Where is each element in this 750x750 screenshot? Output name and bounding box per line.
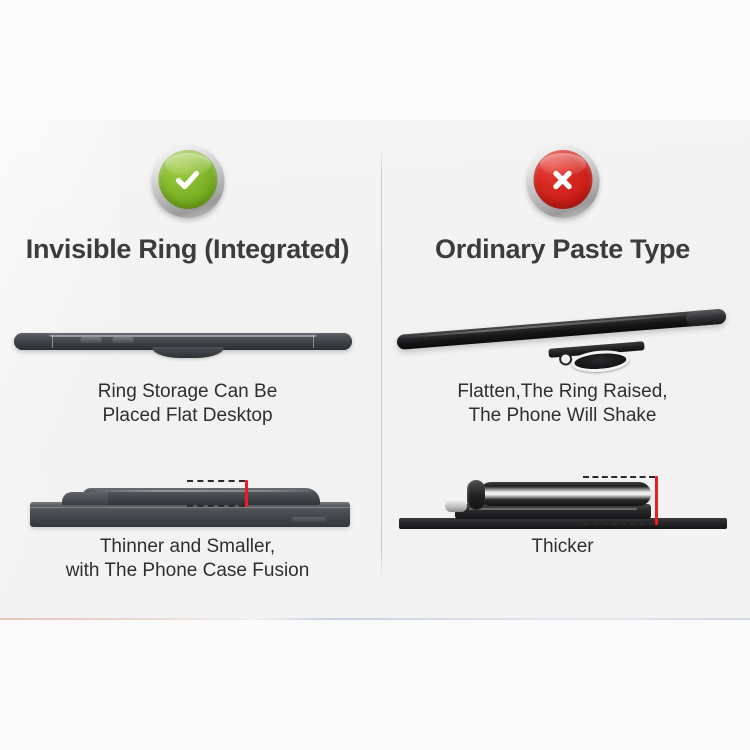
- volume-button-up: [80, 337, 102, 343]
- comparison-column-ordinary-paste: Ordinary Paste Type Flatten,The Ring Rai…: [375, 120, 750, 620]
- phone-tilt-wrapper: [397, 319, 727, 365]
- status-badge-negative: [517, 137, 609, 229]
- volume-button-down: [112, 337, 134, 343]
- paste-ring-holder: [548, 341, 645, 371]
- phone-seam-right: [313, 335, 314, 348]
- caption-top: Ring Storage Can Be Placed Flat Desktop: [0, 380, 375, 428]
- ring-hinge: [467, 480, 485, 510]
- measure-bar: [655, 476, 658, 525]
- measure-bar: [245, 480, 248, 507]
- ring-base-plate: [455, 504, 651, 519]
- phone-cap-right: [314, 333, 352, 350]
- product-photo-cased-phone-thin: [0, 450, 375, 530]
- phone-body: [479, 482, 651, 506]
- product-photo-flat-phone: [0, 305, 375, 375]
- product-photo-phone-on-desk-thick: [375, 450, 750, 530]
- infographic-canvas: Invisible Ring (Integrated) Ring Storage…: [0, 0, 750, 750]
- caption-bottom: Thicker: [375, 535, 750, 559]
- thickness-marker-thin: [245, 480, 315, 510]
- phone-cap-left: [14, 333, 52, 350]
- caption-top: Flatten,The Ring Raised, The Phone Will …: [375, 380, 750, 428]
- measure-leader-top: [583, 476, 655, 478]
- comparison-column-invisible-ring: Invisible Ring (Integrated) Ring Storage…: [0, 120, 375, 620]
- status-badge-positive: [142, 137, 234, 229]
- phone-cap-right: [685, 309, 726, 327]
- product-photo-tilted-phone: [375, 305, 750, 375]
- measure-leader-top: [187, 480, 245, 482]
- phone-side-profile-tilted: [396, 309, 726, 350]
- comparison-panel: Invisible Ring (Integrated) Ring Storage…: [0, 120, 750, 620]
- check-icon: [158, 150, 217, 209]
- ring-clip: [445, 500, 467, 512]
- caption-bottom: Thinner and Smaller, with The Phone Case…: [0, 535, 375, 583]
- cross-icon: [533, 150, 592, 209]
- ring-pivot: [561, 354, 571, 364]
- column-heading: Ordinary Paste Type: [375, 234, 750, 265]
- column-heading: Invisible Ring (Integrated): [0, 234, 375, 265]
- measure-leader-bottom: [583, 523, 655, 525]
- phone-seam-left: [52, 335, 53, 348]
- thickness-marker-thick: [655, 476, 735, 528]
- integrated-ring-flush: [152, 347, 224, 358]
- measure-leader-bottom: [187, 505, 245, 507]
- phone-case-hump: [62, 492, 108, 505]
